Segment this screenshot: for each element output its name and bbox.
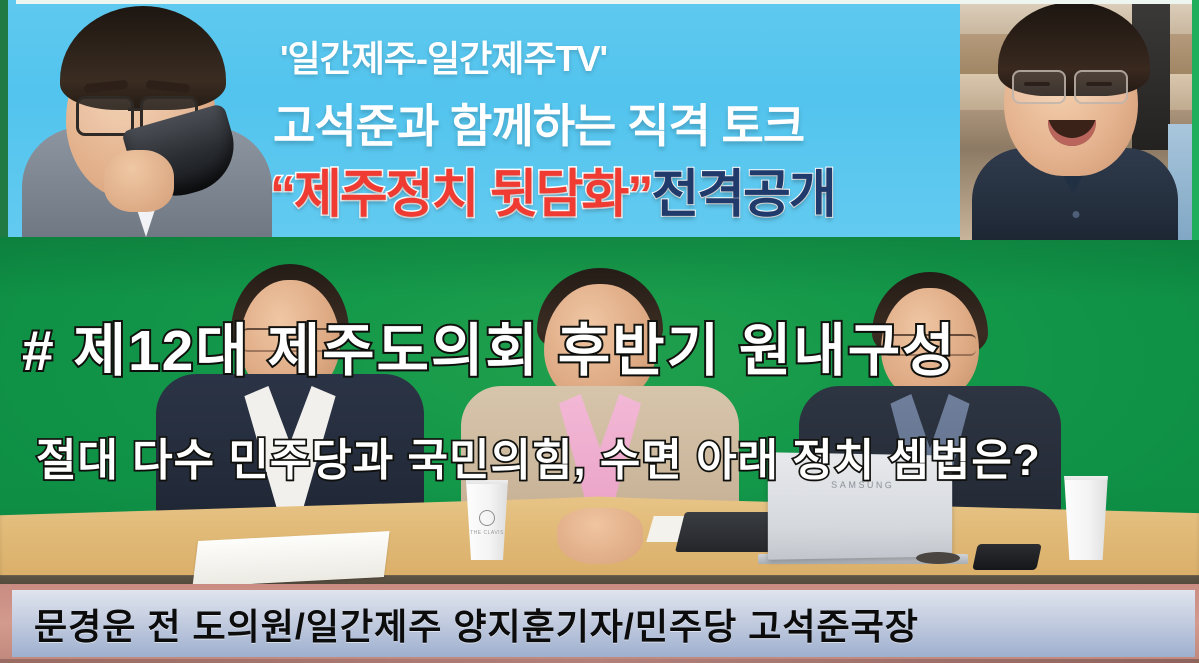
caption-bar-underline	[0, 659, 1199, 663]
inset-guest-glasses-right-icon	[1074, 70, 1128, 104]
banner-host-portrait	[18, 0, 288, 237]
caption-text: 문경운 전 도의원/일간제주 양지훈기자/민주당 고석준국장	[34, 598, 919, 650]
coffee-cup-left-logo-icon	[479, 510, 495, 526]
coffee-cup-left-logo-text: THE CLAVIS	[470, 530, 504, 536]
inset-guest-shirt-button	[1073, 211, 1080, 218]
banner-host-hair	[60, 6, 226, 110]
inset-guest-glasses-left-icon	[1012, 70, 1066, 104]
inset-top-rule	[960, 0, 1192, 4]
banner-host-glasses-left-icon	[76, 96, 134, 136]
banner-top-rule	[16, 0, 960, 4]
banner-channel-name: '일간제주-일간제주TV'	[280, 30, 607, 82]
desk-microphone-base	[916, 552, 960, 564]
program-banner: '일간제주-일간제주TV' 고석준과 함께하는 직격 토크 “제주정치 뒷담화”…	[0, 0, 960, 237]
banner-host-glasses-bridge	[128, 108, 142, 111]
inset-guest-eye-right	[1086, 82, 1112, 86]
banner-host-hand	[104, 150, 174, 212]
participant-middle-hands	[557, 508, 643, 564]
remote-guest-webcam[interactable]	[960, 0, 1199, 240]
desk-smartphone	[972, 544, 1042, 570]
banner-show-title: “제주정치 뒷담화”전격공개	[270, 152, 835, 227]
overlay-headline: # 제12대 제주도의회 후반기 원내구성	[22, 305, 957, 387]
caption-bar: 문경운 전 도의원/일간제주 양지훈기자/민주당 고석준국장	[0, 584, 1199, 663]
overlay-subtitle: 절대 다수 민주당과 국민의힘, 수면 아래 정치 셈법은?	[36, 424, 1041, 488]
studio-green-screen: SAMSUNG THE CLAVIS	[0, 236, 1199, 588]
banner-show-title-quoted: “제주정치 뒷담화”	[270, 166, 651, 224]
video-frame: SAMSUNG THE CLAVIS # 제12대 제주도의회 후반기 원내구성…	[0, 0, 1199, 663]
banner-show-subtitle: 고석준과 함께하는 직격 토크	[273, 90, 804, 156]
caption-bar-inner: 문경운 전 도의원/일간제주 양지훈기자/민주당 고석준국장	[12, 590, 1195, 657]
banner-show-title-tail: 전격공개	[651, 166, 834, 224]
inset-guest-eye-left	[1024, 82, 1050, 86]
